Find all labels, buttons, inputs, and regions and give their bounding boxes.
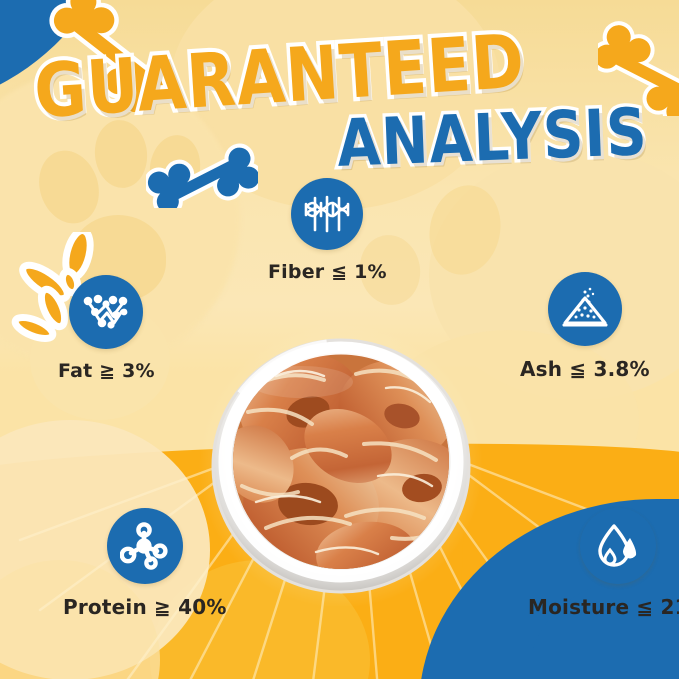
poster-title: GUARANTEED ANALYSIS (0, 34, 679, 174)
fiber-badge[interactable] (291, 178, 363, 250)
title-line-analysis: ANALYSIS (336, 95, 649, 182)
guaranteed-analysis-poster: GUARANTEED ANALYSIS (0, 0, 679, 679)
fiber-strand-icon (304, 191, 350, 237)
nutrient-item-protein[interactable]: Protein ≧ 40% (63, 508, 227, 619)
protein-badge[interactable] (107, 508, 183, 584)
nutrient-item-ash[interactable]: Ash ≦ 3.8% (520, 272, 650, 381)
ash-mound-icon (561, 286, 609, 332)
fat-label: Fat ≧ 3% (58, 360, 155, 382)
moisture-badge[interactable] (580, 508, 656, 584)
ash-badge[interactable] (548, 272, 622, 346)
protein-label: Protein ≧ 40% (63, 595, 227, 619)
moisture-label: Moisture ≦ 21% (528, 595, 679, 619)
fat-molecule-icon (82, 290, 130, 334)
nutrient-item-fat[interactable]: Fat ≧ 3% (58, 275, 155, 382)
nutrient-item-fiber[interactable]: Fiber ≦ 1% (268, 178, 387, 283)
nutrient-item-moisture[interactable]: Moisture ≦ 21% (528, 508, 679, 619)
product-photo-bowl (196, 316, 486, 606)
fat-badge[interactable] (69, 275, 143, 349)
water-droplet-icon (594, 522, 642, 570)
protein-molecule-icon (120, 522, 170, 570)
ash-label: Ash ≦ 3.8% (520, 357, 650, 381)
fiber-label: Fiber ≦ 1% (268, 261, 387, 283)
